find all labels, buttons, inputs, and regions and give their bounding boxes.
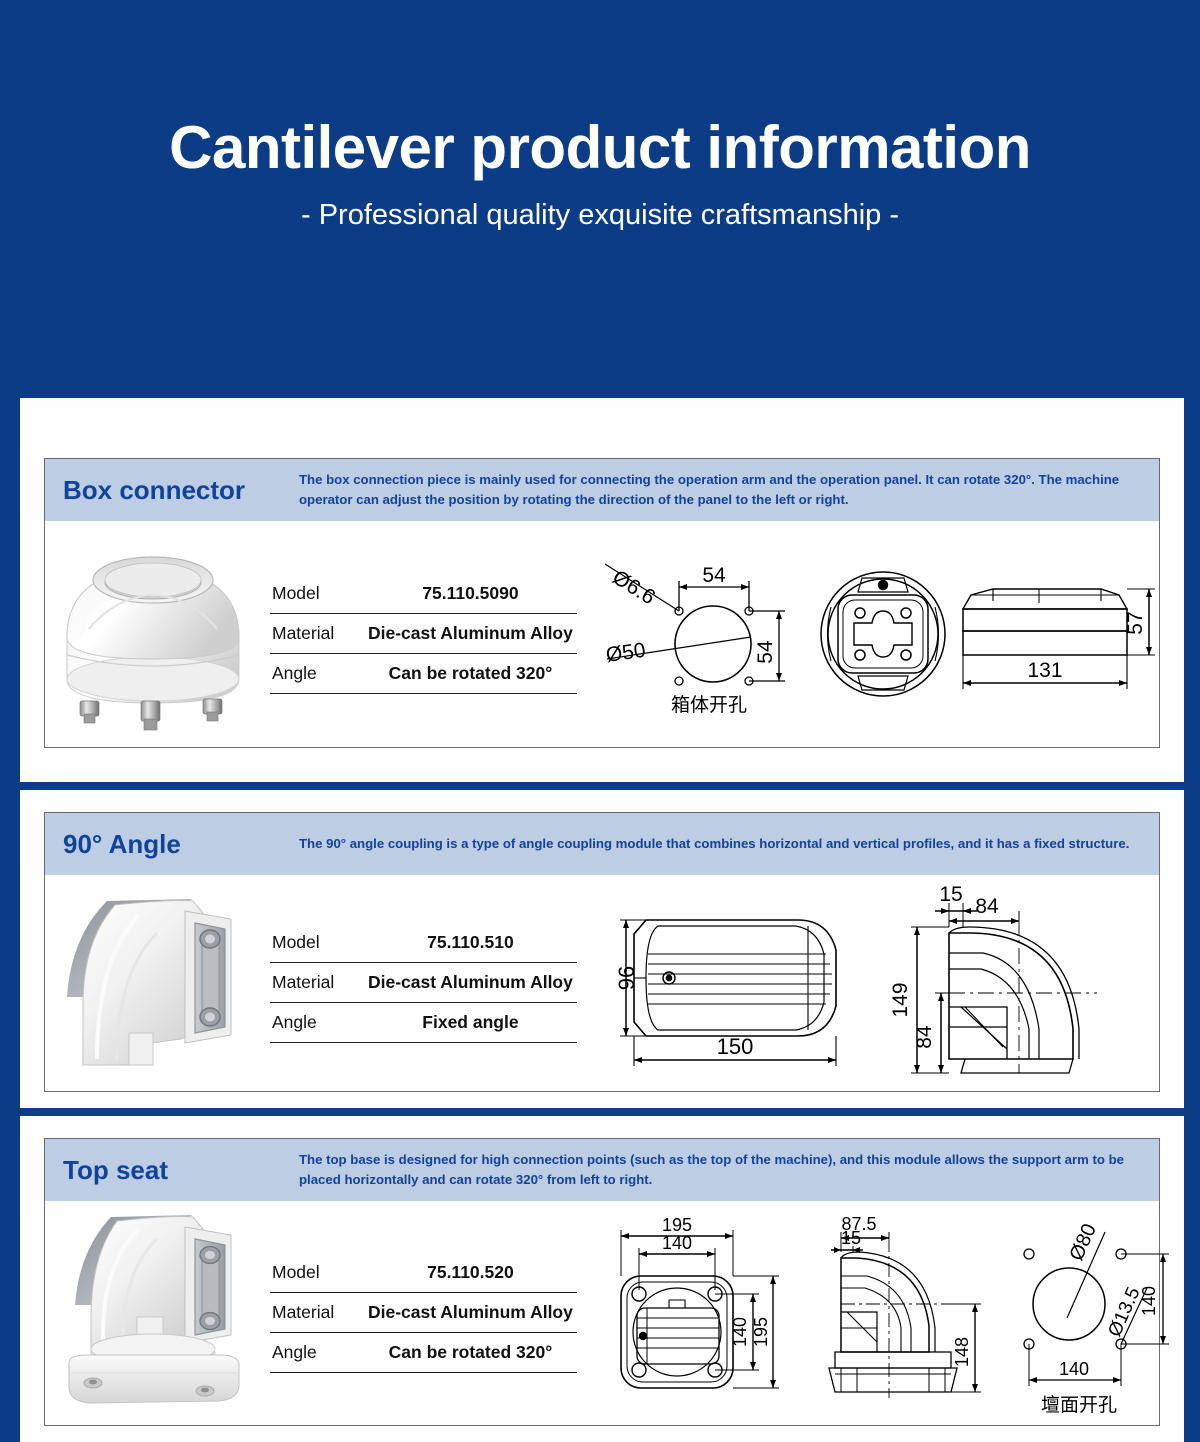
- dim-84-top: 84: [976, 895, 1000, 918]
- spec-table-box-connector: Model 75.110.5090 Material Die-cast Alum…: [260, 521, 591, 747]
- dim-15: 15: [841, 1228, 861, 1248]
- dim-140-vertical: 140: [730, 1317, 750, 1347]
- spec-value-material: Die-cast Aluminum Alloy: [368, 972, 573, 993]
- product-card-top-seat: Top seat The top base is designed for hi…: [44, 1138, 1160, 1426]
- card-description: The top base is designed for high connec…: [299, 1150, 1145, 1190]
- drawing-caption-box-opening: 箱体开孔: [671, 694, 747, 716]
- page-subtitle: - Professional quality exquisite craftsm…: [301, 199, 899, 232]
- spec-label-model: Model: [272, 1262, 368, 1283]
- spec-table-top-seat: Model 75.110.520 Material Die-cast Alumi…: [260, 1201, 591, 1425]
- drawings-box-connector: Ø6.6 Ø50 54 54 箱体开孔: [591, 521, 1176, 747]
- spec-label-material: Material: [272, 972, 368, 993]
- drawing-front-view-angle-90: 96 150: [612, 896, 862, 1071]
- card-body-top-seat: Model 75.110.520 Material Die-cast Alumi…: [45, 1201, 1159, 1425]
- dim-57: 57: [1124, 611, 1147, 634]
- spec-label-model: Model: [272, 583, 368, 604]
- dim-96: 96: [614, 965, 639, 989]
- product-photo-top-seat: [45, 1201, 260, 1425]
- spec-row-model: Model 75.110.520: [270, 1253, 577, 1293]
- drawing-bottom-view-top-seat: 195 140 140 195: [601, 1218, 801, 1408]
- card-description: The box connection piece is mainly used …: [299, 470, 1145, 510]
- spec-value-model: 75.110.520: [368, 1262, 573, 1283]
- dim-15: 15: [940, 883, 963, 906]
- spec-label-material: Material: [272, 1302, 368, 1323]
- dim-140-horizontal: 140: [662, 1233, 692, 1253]
- drawing-wall-hole-pattern: Ø80 Ø13.5 140 140 壇面开孔: [1001, 1206, 1200, 1421]
- card-title: 90° Angle: [63, 829, 299, 860]
- spec-value-angle: Fixed angle: [368, 1012, 573, 1033]
- spec-value-material: Die-cast Aluminum Alloy: [368, 1302, 573, 1323]
- spec-row-angle: Angle Fixed angle: [270, 1003, 577, 1043]
- spec-table-angle-90: Model 75.110.510 Material Die-cast Alumi…: [260, 875, 591, 1091]
- product-card-box-connector: Box connector The box connection piece i…: [44, 458, 1160, 748]
- card-description: The 90° angle coupling is a type of angl…: [299, 834, 1145, 854]
- product-photo-angle-90: [45, 875, 260, 1091]
- drawing-side-view-angle-90: 15 84 149 84: [883, 881, 1138, 1086]
- box-connector-illustration: [53, 537, 253, 732]
- card-header-angle-90: 90° Angle The 90° angle coupling is a ty…: [45, 813, 1159, 875]
- product-photo-box-connector: [45, 521, 260, 747]
- spec-row-material: Material Die-cast Aluminum Alloy: [270, 1293, 577, 1333]
- spec-row-angle: Angle Can be rotated 320°: [270, 1333, 577, 1373]
- product-card-angle-90: 90° Angle The 90° angle coupling is a ty…: [44, 812, 1160, 1092]
- spec-value-angle: Can be rotated 320°: [368, 663, 573, 684]
- drawing-caption-wall-opening: 壇面开孔: [1041, 1394, 1117, 1416]
- spec-row-material: Material Die-cast Aluminum Alloy: [270, 963, 577, 1003]
- spec-row-angle: Angle Can be rotated 320°: [270, 654, 577, 694]
- dim-54-horizontal: 54: [702, 564, 726, 587]
- card-body-box-connector: Model 75.110.5090 Material Die-cast Alum…: [45, 521, 1159, 747]
- product-info-page: Cantilever product information - Profess…: [0, 0, 1200, 1442]
- spec-row-model: Model 75.110.5090: [270, 574, 577, 614]
- card-header-top-seat: Top seat The top base is designed for hi…: [45, 1139, 1159, 1201]
- dim-150: 150: [716, 1034, 753, 1059]
- page-banner: Cantilever product information - Profess…: [0, 0, 1200, 398]
- drawing-top-view: [816, 559, 951, 709]
- section-panel-angle-90: 90° Angle The 90° angle coupling is a ty…: [20, 790, 1184, 1108]
- spec-label-material: Material: [272, 623, 368, 644]
- card-title: Box connector: [63, 475, 299, 506]
- drawing-hole-pattern: Ø6.6 Ø50 54 54 箱体开孔: [601, 539, 816, 729]
- spec-value-model: 75.110.510: [368, 932, 573, 953]
- top-seat-illustration: [53, 1213, 253, 1413]
- dim-84-vertical: 84: [913, 1025, 936, 1049]
- spec-row-material: Material Die-cast Aluminum Alloy: [270, 614, 577, 654]
- spec-row-model: Model 75.110.510: [270, 923, 577, 963]
- dim-diameter-6-6: Ø6.6: [608, 566, 659, 610]
- dim-195-vertical: 195: [751, 1317, 771, 1347]
- drawing-side-view-top-seat: 87.5 15 148: [801, 1216, 1001, 1411]
- spec-label-angle: Angle: [272, 663, 368, 684]
- card-title: Top seat: [63, 1155, 299, 1186]
- spec-label-model: Model: [272, 932, 368, 953]
- dim-131: 131: [1027, 659, 1062, 682]
- card-body-angle-90: Model 75.110.510 Material Die-cast Alumi…: [45, 875, 1159, 1091]
- section-panel-box-connector: Box connector The box connection piece i…: [20, 398, 1184, 782]
- spec-label-angle: Angle: [272, 1342, 368, 1363]
- section-panel-top-seat: Top seat The top base is designed for hi…: [20, 1116, 1184, 1442]
- angle-90-illustration: [53, 893, 253, 1073]
- drawings-top-seat: 195 140 140 195: [591, 1201, 1200, 1425]
- dim-148: 148: [952, 1336, 972, 1366]
- dim-149: 149: [889, 982, 912, 1017]
- dim-diameter-50: Ø50: [604, 639, 647, 667]
- dim-140-vertical: 140: [1139, 1285, 1159, 1315]
- spec-label-angle: Angle: [272, 1012, 368, 1033]
- spec-value-angle: Can be rotated 320°: [368, 1342, 573, 1363]
- spec-value-model: 75.110.5090: [368, 583, 573, 604]
- card-header-box-connector: Box connector The box connection piece i…: [45, 459, 1159, 521]
- drawing-side-view: 57 131: [951, 559, 1166, 709]
- dim-54-vertical: 54: [754, 640, 777, 664]
- dim-diameter-80: Ø80: [1065, 1220, 1100, 1263]
- page-title: Cantilever product information: [169, 116, 1031, 179]
- drawings-angle-90: 96 150: [591, 875, 1159, 1091]
- dim-140-horizontal: 140: [1059, 1359, 1089, 1379]
- spec-value-material: Die-cast Aluminum Alloy: [368, 623, 573, 644]
